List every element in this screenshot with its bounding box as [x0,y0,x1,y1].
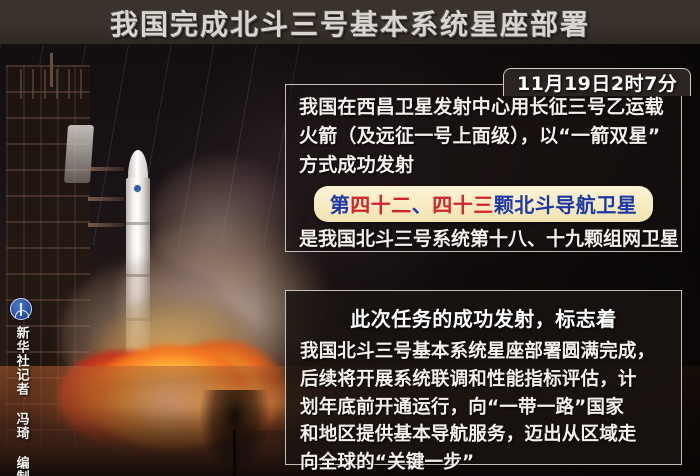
panel-bottom-heading: 此次任务的成功发射，标志着 [286,291,681,332]
rocket-band [126,222,150,225]
panel-bottom-line: 向全球的“关键一步” [300,449,667,476]
date-badge-label: 11月19日2时7分 [517,69,677,96]
page-title: 我国完成北斗三号基本系统星座部署 [110,3,590,43]
highlight-row: 第四十二、四十三颗北斗导航卫星 [299,186,668,222]
panel-top-line: 方式成功发射 [299,151,668,180]
panel-top-body: 我国在西昌卫星发射中心用长征三号乙运载 火箭（及远征一号上面级），以“一箭双星”… [286,85,681,251]
infographic-poster: 我国完成北斗三号基本系统星座部署 [0,0,700,476]
rocket-emblem-icon [133,184,142,193]
title-bar: 我国完成北斗三号基本系统星座部署 [0,0,700,45]
panel-bottom-line: 和地区提供基本导航服务，迈出从区域走 [300,421,667,449]
satellite-highlight-pill: 第四十二、四十三颗北斗导航卫星 [314,186,654,222]
panel-top-line: 火箭（及远征一号上面级），以“一箭双星” [299,122,668,151]
xinhua-logo-icon [10,298,32,320]
panel-launch-summary: 我国在西昌卫星发射中心用长征三号乙运载 火箭（及远征一号上面级），以“一箭双星”… [285,84,682,252]
panel-top-line: 我国在西昌卫星发射中心用长征三号乙运载 [299,93,668,122]
panel-bottom-body: 我国北斗三号基本系统星座部署圆满完成， 后续将开展系统联调和性能指标评估，计 划… [286,332,681,476]
panel-top-subtitle: 是我国北斗三号系统第十八、十九颗组网卫星 [299,227,668,252]
tower-arm [88,167,124,171]
tower-white-panel [64,125,94,183]
xinhua-credit: 新华社记者 冯琦 编制 [7,298,35,476]
highlight-segment: 四十二 [350,193,412,217]
panel-bottom-line: 后续将开展系统联调和性能指标评估，计 [300,366,667,394]
credit-text: 新华社记者 冯琦 编制 [13,326,28,476]
tower-arm [88,197,124,201]
tower-arm [88,223,124,227]
highlight-segment: 四十三 [432,193,494,217]
date-badge: 11月19日2时7分 [503,68,691,96]
panel-bottom-line: 划年底前开通运行，向“一带一路”国家 [300,394,667,422]
highlight-segment: 颗北斗导航卫星 [494,193,638,217]
highlight-segment: 第 [330,193,351,217]
panel-bottom-line: 我国北斗三号基本系统星座部署圆满完成， [300,338,667,366]
tower-mast [50,53,53,87]
highlight-segment: 、 [412,193,433,217]
panel-mission-significance: 此次任务的成功发射，标志着 我国北斗三号基本系统星座部署圆满完成， 后续将开展系… [285,290,682,465]
